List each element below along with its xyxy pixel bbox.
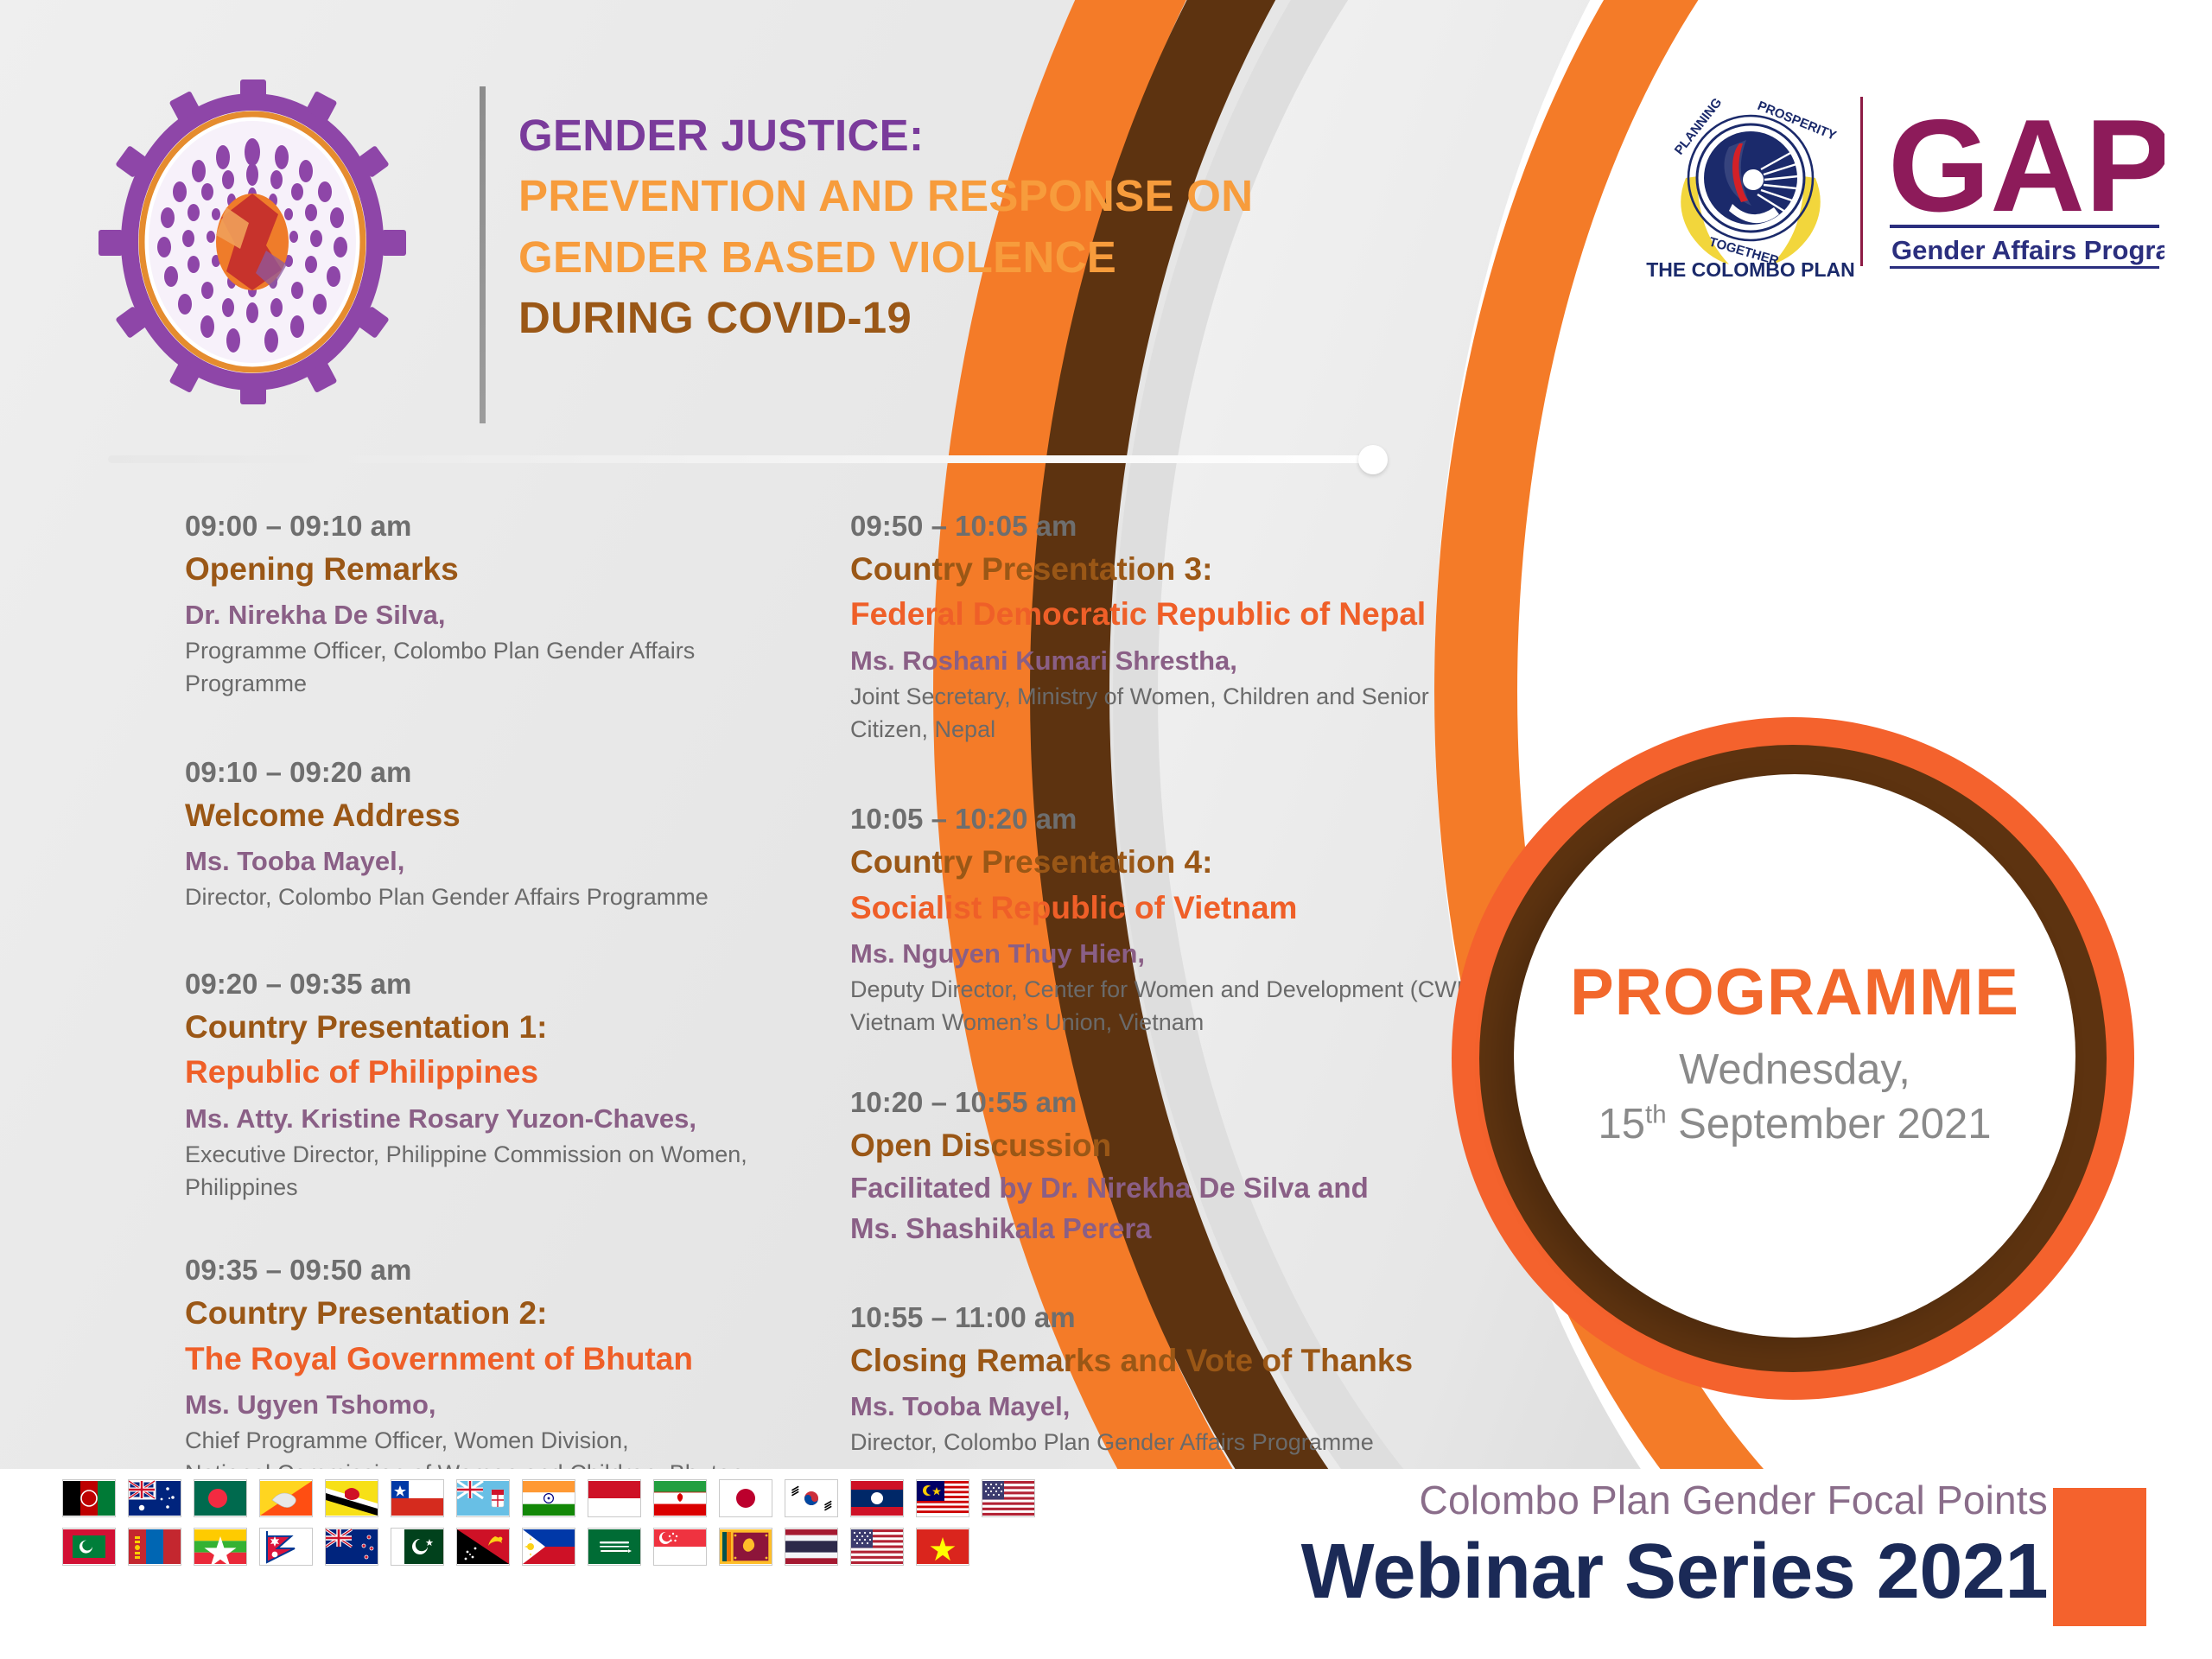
gender-justice-emblem-icon [97,78,408,406]
gap-subtitle: Gender Affairs Programme [1891,235,2164,265]
flag-singapore [653,1528,707,1566]
flag-saudi-arabia [588,1528,641,1566]
partner-logos: PLANNING PROSPERITY TOGETHER THE COLOMBO… [1646,76,2164,283]
agenda-person: Ms. Roshani Kumari Shrestha, [850,641,1490,681]
agenda-item: 10:05 – 10:20 am Country Presentation 4:… [850,799,1490,1039]
agenda-time: 10:55 – 11:00 am [850,1298,1490,1338]
agenda-title: Welcome Address [185,793,790,839]
agenda-time: 10:20 – 10:55 am [850,1083,1490,1123]
flag-thailand [785,1528,838,1566]
footer-series-title: Webinar Series 2021 [1301,1529,2048,1616]
agenda-country: The Royal Government of Bhutan [185,1337,790,1382]
colombo-plan-caption: THE COLOMBO PLAN [1646,258,1855,281]
title-line-4: DURING COVID-19 [518,288,1391,348]
agenda-country: Federal Democratic Republic of Nepal [850,592,1490,638]
agenda-title: Closing Remarks and Vote of Thanks [850,1338,1490,1384]
poster-root: GENDER JUSTICE: PREVENTION AND RESPONSE … [0,0,2212,1659]
agenda-role: Chief Programme Officer, Women Division, [185,1425,790,1458]
agenda-item: 09:50 – 10:05 am Country Presentation 3:… [850,506,1490,746]
flag-laos [850,1479,904,1517]
programme-badge-title: PROGRAMME [1570,960,2019,1026]
agenda-person: Ms. Tooba Mayel, [185,842,790,881]
agenda-title: Country Presentation 1: [185,1005,790,1051]
agenda-time: 09:00 – 09:10 am [185,506,790,547]
agenda-column-left: 09:00 – 09:10 am Opening Remarks Dr. Nir… [185,506,790,1529]
flag-row-1 [62,1479,1125,1517]
agenda-title: Open Discussion [850,1123,1490,1169]
flag-bhutan [259,1479,313,1517]
agenda-facilitator: Ms. Shashikala Perera [850,1209,1490,1249]
flag-south-korea [785,1479,838,1517]
agenda-title: Country Presentation 4: [850,840,1490,886]
flag-india [522,1479,575,1517]
agenda-role: Vietnam Women’s Union, Vietnam [850,1007,1490,1039]
flag-brunei [325,1479,378,1517]
agenda-title: Country Presentation 2: [185,1291,790,1337]
agenda-time: 09:35 – 09:50 am [185,1250,790,1291]
flag-malaysia [916,1479,969,1517]
flag-pakistan [391,1528,444,1566]
agenda-time: 09:20 – 09:35 am [185,964,790,1005]
programme-badge-date: 15th September 2021 [1599,1097,1992,1152]
agenda-role: Director, Colombo Plan Gender Affairs Pr… [185,881,790,914]
agenda-person: Ms. Tooba Mayel, [850,1387,1490,1427]
footer-tagline: Colombo Plan Gender Focal Points [1301,1478,2048,1523]
flag-united-states [982,1479,1035,1517]
flag-myanmar [194,1528,247,1566]
page-title: GENDER JUSTICE: PREVENTION AND RESPONSE … [518,105,1391,349]
flag-new-zealand [325,1528,378,1566]
agenda-column-right: 09:50 – 10:05 am Country Presentation 3:… [850,506,1490,1497]
agenda-time: 09:50 – 10:05 am [850,506,1490,547]
gap-acronym: GAP [1888,92,2164,239]
programme-badge-day: Wednesday, [1679,1043,1910,1097]
flag-philippines [522,1528,575,1566]
flag-maldives [62,1528,116,1566]
flag-fiji [456,1479,510,1517]
agenda-title: Opening Remarks [185,547,790,593]
flag-australia [128,1479,181,1517]
agenda-country: Socialist Republic of Vietnam [850,886,1490,931]
flag-iran [653,1479,707,1517]
agenda-item: 09:20 – 09:35 am Country Presentation 1:… [185,964,790,1204]
programme-badge: PROGRAMME Wednesday, 15th September 2021 [1514,774,2075,1338]
agenda-facilitator: Facilitated by Dr. Nirekha De Silva and [850,1168,1490,1209]
header-divider [108,455,1371,463]
flag-nepal [259,1528,313,1566]
agenda-title: Country Presentation 3: [850,547,1490,593]
title-divider [480,86,486,423]
colombo-plan-logo-icon: PLANNING PROSPERITY TOGETHER THE COLOMBO… [1646,95,1855,281]
member-flags [62,1479,1125,1576]
agenda-country: Republic of Philippines [185,1050,790,1096]
flag-afghanistan [62,1479,116,1517]
agenda-person: Ms. Atty. Kristine Rosary Yuzon-Chaves, [185,1099,790,1139]
footer-text-block: Colombo Plan Gender Focal Points Webinar… [1301,1478,2048,1616]
agenda-role: Joint Secretary, Ministry of Women, Chil… [850,681,1490,747]
title-line-1: GENDER JUSTICE: [518,105,1391,166]
agenda-time: 10:05 – 10:20 am [850,799,1490,840]
programme-badge-date-month: September 2021 [1667,1101,1992,1147]
flag-chile [391,1479,444,1517]
header-divider-dot [1358,445,1388,474]
agenda-item: 09:35 – 09:50 am Country Presentation 2:… [185,1250,790,1490]
agenda-role: Programme Officer, Colombo Plan Gender A… [185,635,790,701]
programme-badge-date-ordinal: th [1645,1101,1667,1129]
agenda-time: 09:10 – 09:20 am [185,753,790,793]
flag-papua-new-guinea [456,1528,510,1566]
agenda-person: Ms. Ugyen Tshomo, [185,1385,790,1425]
gap-logo-icon: GAP Gender Affairs Programme [1888,92,2164,269]
flag-indonesia [588,1479,641,1517]
flag-row-2 [62,1528,1125,1566]
flag-sri-lanka [719,1528,772,1566]
agenda-item: 10:20 – 10:55 am Open Discussion Facilit… [850,1083,1490,1249]
agenda-item: 10:55 – 11:00 am Closing Remarks and Vot… [850,1298,1490,1459]
agenda-item: 09:10 – 09:20 am Welcome Address Ms. Too… [185,753,790,914]
flag-bangladesh [194,1479,247,1517]
agenda-role: Deputy Director, Center for Women and De… [850,974,1490,1007]
agenda-person: Ms. Nguyen Thuy Hien, [850,934,1490,974]
agenda-role: Executive Director, Philippine Commissio… [185,1139,790,1205]
flag-japan [719,1479,772,1517]
agenda-person: Dr. Nirekha De Silva, [185,595,790,635]
footer-accent-square [2053,1488,2146,1626]
programme-badge-date-number: 15 [1599,1101,1646,1147]
flag-vietnam [916,1528,969,1566]
title-line-3: GENDER BASED VIOLENCE [518,227,1391,288]
title-line-2: PREVENTION AND RESPONSE ON [518,166,1391,226]
logo-separator [1860,97,1863,266]
footer: Colombo Plan Gender Focal Points Webinar… [0,1469,2212,1659]
agenda-item: 09:00 – 09:10 am Opening Remarks Dr. Nir… [185,506,790,701]
flag-mongolia [128,1528,181,1566]
flag-united-states [850,1528,904,1566]
agenda-role: Director, Colombo Plan Gender Affairs Pr… [850,1427,1490,1459]
